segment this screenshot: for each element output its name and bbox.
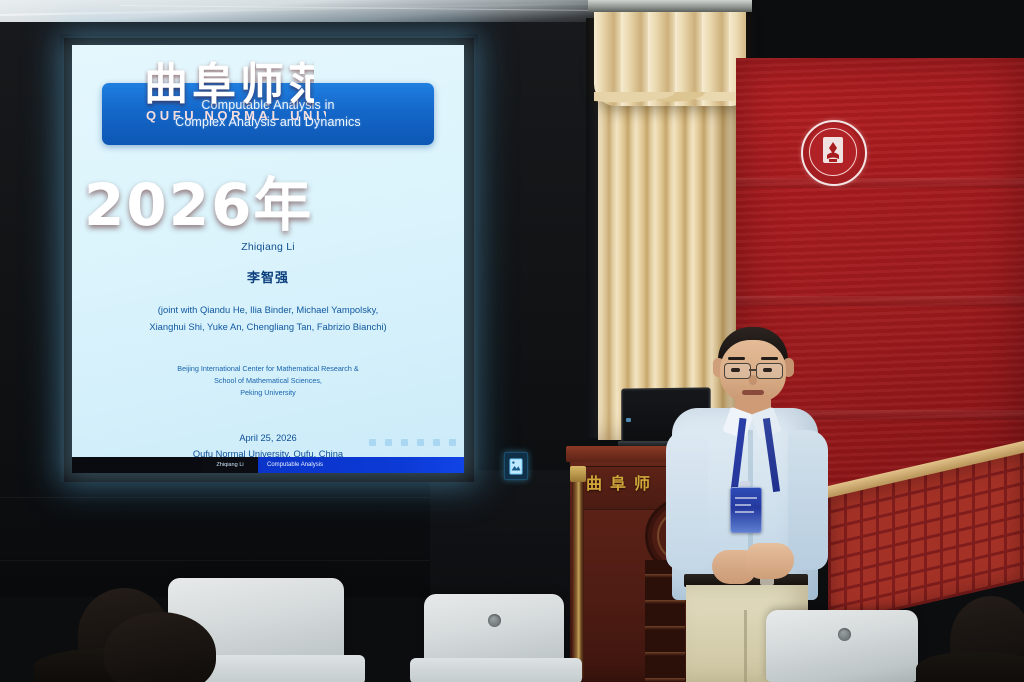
speaker-right-arm — [788, 430, 828, 570]
slide-coauthors: (joint with Qiandu He, Ilia Binder, Mich… — [72, 301, 464, 335]
slide-affiliation: Beijing International Center for Mathema… — [72, 363, 464, 399]
conference-name-badge — [730, 487, 762, 533]
nav-back-icon[interactable] — [401, 439, 408, 446]
banner-year-text: 2026年 — [84, 158, 314, 242]
nav-next-icon[interactable] — [433, 439, 440, 446]
eyeglasses-bridge — [749, 369, 756, 371]
footer-spacer — [72, 457, 202, 473]
slide-author-chinese: 李智强 — [72, 267, 464, 286]
speaker-left-arm — [666, 430, 708, 570]
podium-pillar-cap — [570, 466, 586, 482]
laptop-indicator-light — [626, 418, 631, 422]
speaker-mouth — [742, 390, 764, 395]
badge-text-line — [735, 511, 754, 513]
banner-fold — [736, 296, 1024, 306]
speaker-nose — [749, 375, 757, 385]
footer-section-label: Computable Analysis — [258, 457, 464, 473]
banner-university-english: QUFU NORMAL UNIV — [146, 108, 326, 123]
badge-text-line — [735, 504, 751, 506]
curtain-valance — [594, 6, 746, 106]
speaker-left-eyebrow — [728, 357, 745, 360]
audience-shoulders — [916, 652, 1024, 682]
trouser-crease — [744, 610, 747, 682]
badge-text-line — [735, 497, 757, 499]
banner-university-chinese: 曲阜师范 — [144, 60, 314, 110]
nav-first-icon[interactable] — [369, 439, 376, 446]
conference-room-photo: Computable Analysis in Complex Analysis … — [0, 0, 1024, 682]
image-sign-icon — [504, 452, 528, 480]
slide-footer-bar: Zhiqiang Li Computable Analysis — [72, 457, 464, 473]
slide-affiliation-line-1: Beijing International Center for Mathema… — [72, 363, 464, 375]
speaker-left-eye — [731, 368, 740, 372]
slide-coauthors-line-1: (joint with Qiandu He, Ilia Binder, Mich… — [72, 301, 464, 318]
speaker-right-eye — [763, 368, 772, 372]
audience-chair — [766, 610, 918, 682]
audience-chair-seat — [410, 658, 582, 682]
slide-coauthors-line-2: Xianghui Shi, Yuke An, Chengliang Tan, F… — [72, 318, 464, 335]
chair-button — [488, 614, 501, 627]
slide-affiliation-line-2: School of Mathematical Sciences, — [72, 375, 464, 387]
speaker-right-hand — [746, 543, 794, 579]
nav-forward-icon[interactable] — [417, 439, 424, 446]
slide-affiliation-line-3: Peking University — [72, 387, 464, 399]
beamer-navigation-bar[interactable] — [369, 439, 456, 446]
slide-author-english: Zhiqiang Li — [72, 241, 464, 253]
banner-fold — [736, 178, 1024, 188]
nav-last-icon[interactable] — [449, 439, 456, 446]
chair-button — [838, 628, 851, 641]
podium-gold-pillar — [572, 470, 584, 678]
nav-prev-icon[interactable] — [385, 439, 392, 446]
curtain-rail — [588, 0, 752, 12]
speaker-right-eyebrow — [761, 357, 778, 360]
footer-author-label: Zhiqiang Li — [202, 457, 258, 473]
university-seal-icon — [801, 120, 867, 186]
